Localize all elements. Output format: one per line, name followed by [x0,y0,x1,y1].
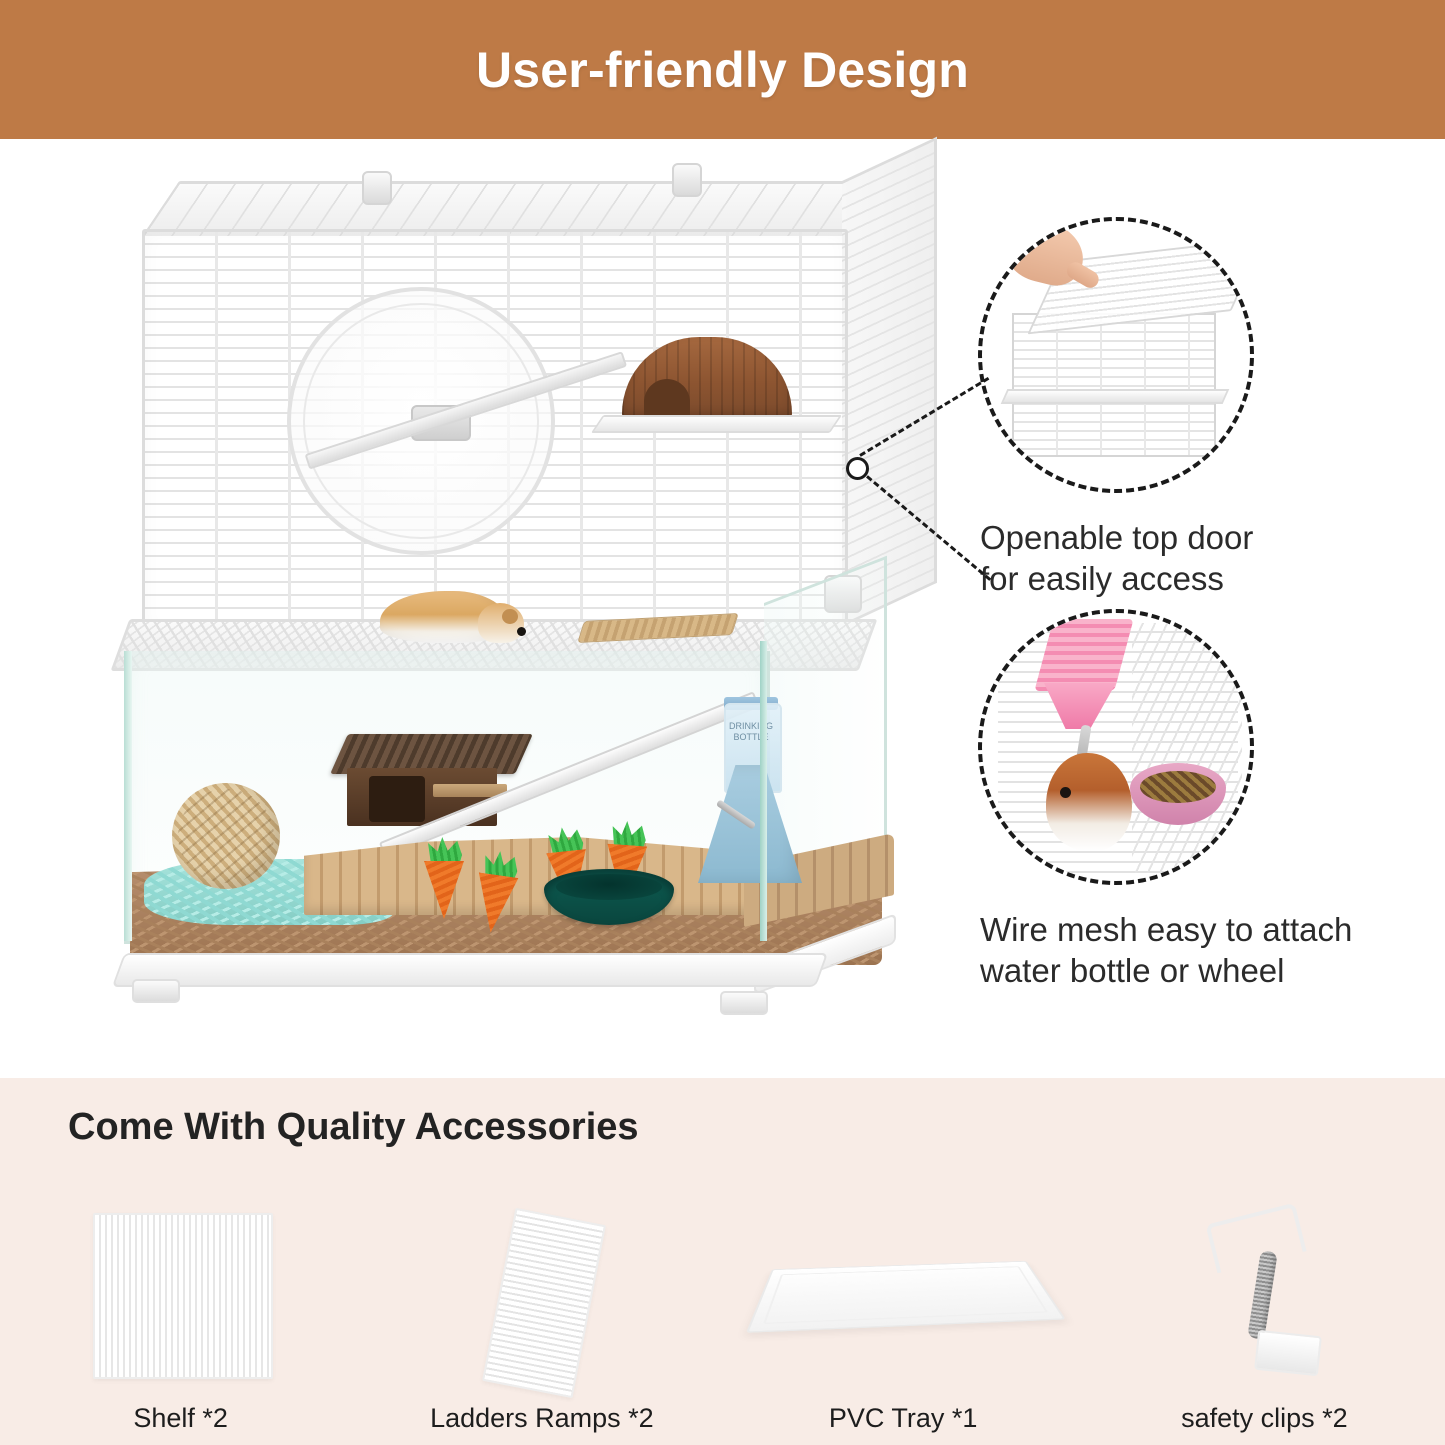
cage-right-panel [842,137,937,627]
accessory-clip-art [1084,1197,1445,1397]
cage-upper-shelf [591,415,842,433]
accessory-label: safety clips *2 [1181,1403,1348,1434]
hut-doorway [644,379,690,419]
callout-2-hamster-eye [1060,787,1071,798]
tank-base-frame [112,953,828,987]
tank-glass-edge-corner [760,641,767,941]
clip-clamp [1254,1330,1322,1376]
accessory-shelf-art [0,1197,361,1397]
accessory-tray-art [723,1197,1084,1397]
accessory-item-shelf: Shelf *2 [0,1174,361,1434]
callout-2-art [982,613,1250,881]
water-bottle-label: DRINKING BOTTLE [726,721,776,745]
callout-2-line2: water bottle or wheel [980,950,1420,991]
accessory-item-safety-clips: safety clips *2 [1084,1174,1445,1434]
hero-section: DRINKING BOTTLE [0,139,1445,1078]
safety-clip-icon [1206,1207,1322,1387]
callout-2-food [1140,771,1216,803]
accessories-title: Come With Quality Accessories [68,1106,639,1149]
callout-2-image [978,609,1254,885]
log-house-door [369,776,425,822]
pvc-tray-icon [746,1261,1066,1333]
callout-2-wire-mesh-angled [1132,623,1242,873]
callout-1-cage [1012,313,1216,457]
infographic-page: User-friendly Design [0,0,1445,1445]
cage-side-wires [842,141,934,624]
callout-1-line1: Openable top door [980,517,1420,558]
accessory-label: Shelf *2 [133,1403,228,1434]
callout-1-art [982,221,1250,489]
carrot-toy [424,841,464,919]
wicker-ball [172,783,280,889]
callout-anchor-dot [846,457,869,480]
callout-2-text: Wire mesh easy to attach water bottle or… [980,909,1420,991]
glass-tank: DRINKING BOTTLE [124,651,882,981]
callout-1-image [978,217,1254,493]
accessory-item-ladder-ramps: Ladders Ramps *2 [361,1174,722,1434]
page-title: User-friendly Design [476,41,969,99]
tank-glass-edge-left [124,651,132,941]
carrot-body [471,872,519,935]
callout-1-text: Openable top door for easily access [980,517,1420,599]
accessory-ramp-art [361,1197,722,1397]
accessory-item-pvc-tray: PVC Tray *1 [723,1174,1084,1434]
callout-2-line1: Wire mesh easy to attach [980,909,1420,950]
hamster-eye [517,627,526,636]
tank-foot-left [132,979,180,1003]
hamster-head [478,603,524,643]
water-bottle: DRINKING BOTTLE [694,703,806,893]
hamster [380,591,510,643]
callout-1-shelf [1001,389,1230,404]
accessory-label: Ladders Ramps *2 [430,1403,654,1434]
clip-hook [1206,1203,1307,1274]
shelf-icon [93,1213,273,1379]
hamster-ear [502,609,518,624]
accessory-label: PVC Tray *1 [829,1403,978,1434]
ladder-ramp-icon [482,1208,606,1398]
cage-top-door [142,181,885,236]
accessories-grid: Shelf *2 Ladders Ramps *2 PVC Tray *1 [0,1174,1445,1434]
cage-hinge-right [672,163,702,197]
cage-hinge-left [362,171,392,205]
carrot-body [424,861,464,919]
hand-icon [1002,217,1090,291]
header-banner: User-friendly Design [0,0,1445,139]
product-cage-illustration: DRINKING BOTTLE [112,219,922,1019]
food-bowl-interior [556,874,662,900]
accessories-section: Come With Quality Accessories Shelf *2 L… [0,1078,1445,1445]
tank-foot-right [720,991,768,1015]
callout-1-line2: for easily access [980,558,1420,599]
callout-2-hamster [1046,753,1132,851]
